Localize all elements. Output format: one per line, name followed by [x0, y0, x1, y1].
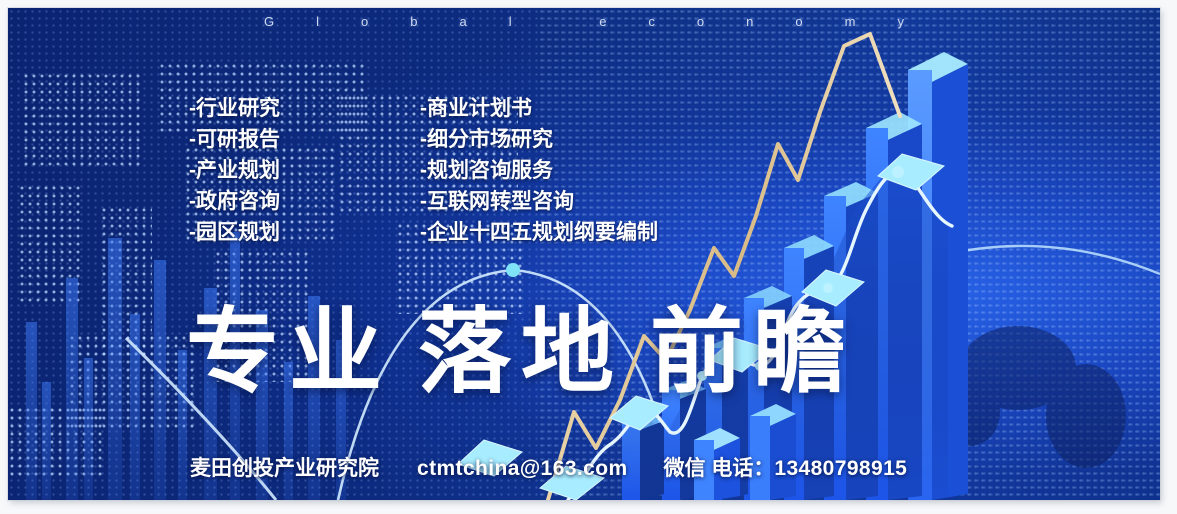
service-item: -可研报告 [189, 124, 280, 155]
services-right-column: -商业计划书 -细分市场研究 -规划咨询服务 -互联网转型咨询 -企业十四五规划… [420, 93, 658, 248]
service-item: -产业规划 [189, 155, 280, 186]
contact-label: 微信 电话： [664, 457, 775, 480]
footer-contact-line: 麦田创投产业研究院ctmtchina@163.com微信 电话：13480798… [190, 452, 907, 482]
email-address[interactable]: ctmtchina@163.com [417, 457, 628, 480]
headline-word-1: 专业 [186, 300, 392, 404]
services-left-column: -行业研究 -可研报告 -产业规划 -政府咨询 -园区规划 [189, 93, 280, 248]
service-item: -规划咨询服务 [420, 155, 658, 186]
service-item: -互联网转型咨询 [420, 186, 658, 217]
top-word: Global economy [8, 14, 1160, 29]
headline: 专业落地前瞻 [186, 304, 856, 400]
phone-number[interactable]: 13480798915 [774, 457, 907, 480]
service-item: -政府咨询 [189, 186, 280, 217]
headline-word-2: 落地 [418, 300, 624, 404]
service-item: -商业计划书 [420, 93, 658, 124]
service-item: -企业十四五规划纲要编制 [420, 217, 658, 248]
org-name: 麦田创投产业研究院 [190, 457, 379, 480]
service-item: -细分市场研究 [420, 124, 658, 155]
headline-word-3: 前瞻 [650, 300, 856, 404]
service-item: -园区规划 [189, 217, 280, 248]
service-item: -行业研究 [189, 93, 280, 124]
growth-chart [8, 8, 1160, 500]
arc-node-dot [506, 263, 520, 277]
promo-banner: Global economy -行业研究 -可研报告 -产业规划 -政府咨询 -… [8, 8, 1160, 500]
